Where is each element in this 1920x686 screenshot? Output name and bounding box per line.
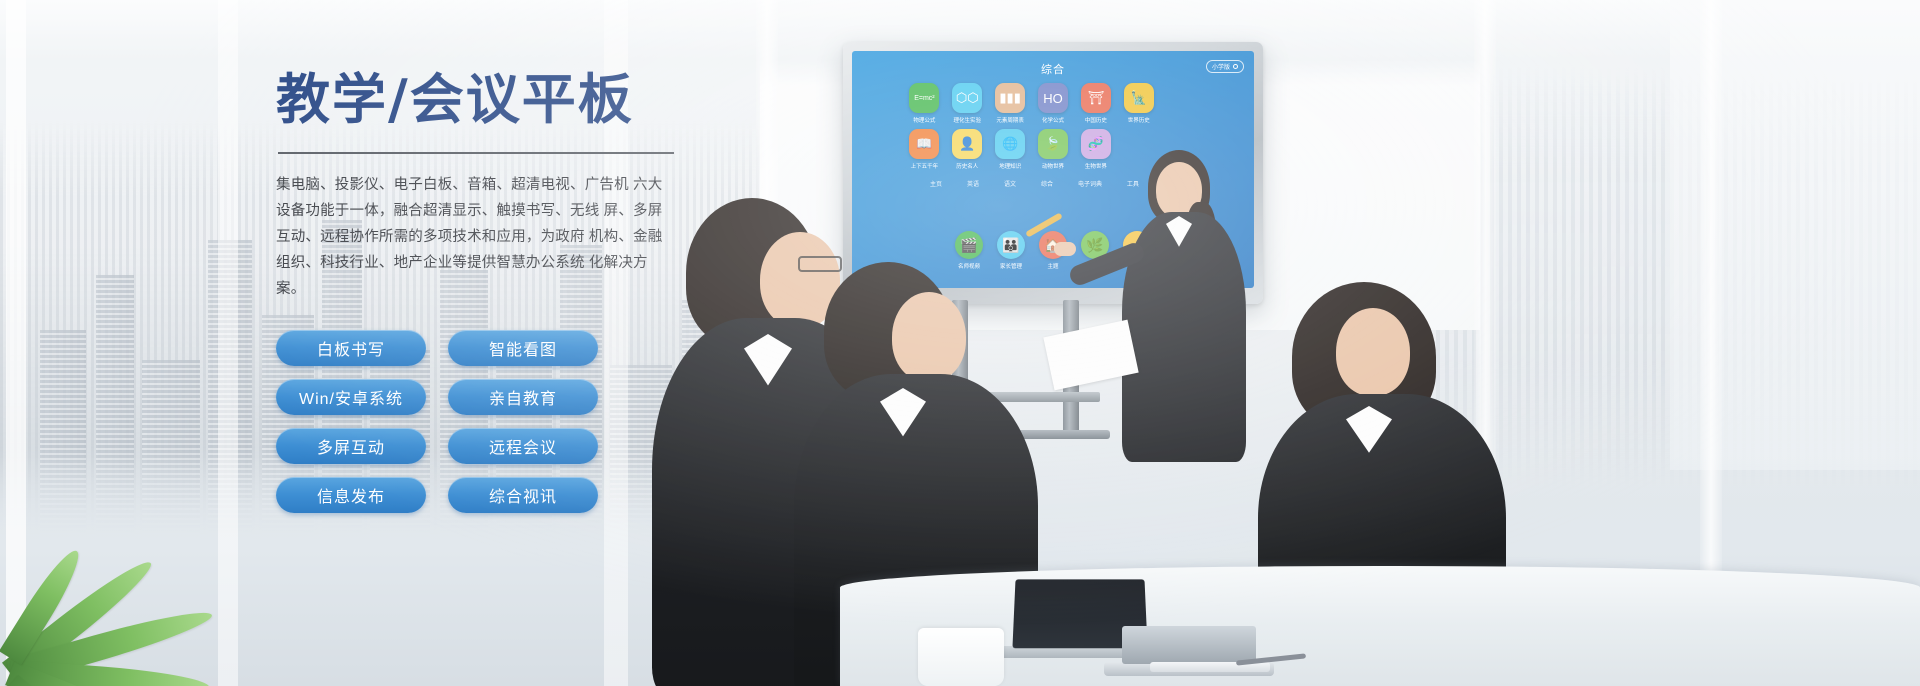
app-tile[interactable]: 🌐地理知识 — [992, 129, 1029, 170]
feature-button[interactable]: 多屏互动 — [276, 428, 426, 464]
feature-button-label: Win/安卓系统 — [299, 385, 403, 409]
app-icon: 🗽 — [1124, 83, 1154, 113]
app-label: 理化生实验 — [954, 116, 982, 124]
dock-icon: 👪 — [997, 231, 1025, 259]
app-tile[interactable]: 👤历史名人 — [949, 129, 986, 170]
feature-button-label: 智能看图 — [489, 336, 557, 360]
app-label: 元素周期表 — [996, 116, 1024, 124]
presenter-hand — [1054, 242, 1076, 256]
subject-tab[interactable]: 电子词典 — [1078, 179, 1102, 188]
page-title: 教学/会议平板 — [276, 70, 696, 130]
grade-badge-label: 小学版 — [1212, 62, 1230, 71]
app-icon: ⬡⬡ — [952, 83, 982, 113]
subject-tab[interactable]: 语文 — [1004, 179, 1016, 188]
app-tile[interactable]: E=mc²物理公式 — [906, 83, 943, 124]
app-label: 中国历史 — [1085, 116, 1107, 124]
title-divider — [278, 152, 674, 154]
subject-tab[interactable]: 英语 — [967, 179, 979, 188]
app-tile[interactable]: 🧬生物世界 — [1077, 129, 1114, 170]
app-label: 化学公式 — [1042, 116, 1064, 124]
subject-tab[interactable]: 主页 — [930, 179, 942, 188]
feature-button[interactable]: 综合视讯 — [448, 477, 598, 513]
app-icon: 🧬 — [1081, 129, 1111, 159]
app-icon: 👤 — [952, 129, 982, 159]
app-grid-row-1: E=mc²物理公式⬡⬡理化生实验▮▮▮元素周期表HO化学公式⛩中国历史🗽世界历史 — [906, 83, 1200, 124]
feature-button[interactable]: 白板书写 — [276, 330, 426, 366]
app-tile[interactable]: ⛩中国历史 — [1077, 83, 1114, 124]
app-label: 地理知识 — [999, 162, 1021, 170]
grade-badge[interactable]: 小学版 — [1206, 60, 1244, 73]
feature-button[interactable]: 智能看图 — [448, 330, 598, 366]
coffee-cup — [918, 628, 1004, 686]
feature-button-grid: 白板书写智能看图Win/安卓系统亲自教育多屏互动远程会议信息发布综合视讯 — [276, 330, 696, 513]
app-tile[interactable]: 🍃动物世界 — [1035, 129, 1072, 170]
subject-tab[interactable]: 综合 — [1041, 179, 1053, 188]
app-icon: ▮▮▮ — [995, 83, 1025, 113]
app-icon: ⛩ — [1081, 83, 1111, 113]
app-icon: HO — [1038, 83, 1068, 113]
app-icon: 🌐 — [995, 129, 1025, 159]
app-label: 世界历史 — [1128, 116, 1150, 124]
feature-button[interactable]: 信息发布 — [276, 477, 426, 513]
app-tile[interactable]: 🗽世界历史 — [1120, 83, 1157, 124]
feature-button[interactable]: 远程会议 — [448, 428, 598, 464]
app-label: 历史名人 — [956, 162, 978, 170]
feature-button-label: 亲自教育 — [489, 385, 557, 409]
app-icon: 📖 — [909, 129, 939, 159]
feature-button-label: 白板书写 — [317, 336, 385, 360]
app-label: 动物世界 — [1042, 162, 1064, 170]
dock-icon: 🎬 — [955, 231, 983, 259]
app-tile[interactable]: ▮▮▮元素周期表 — [992, 83, 1029, 124]
feature-button-label: 综合视讯 — [489, 483, 557, 507]
app-label: 生物世界 — [1085, 162, 1107, 170]
feature-button[interactable]: 亲自教育 — [448, 379, 598, 415]
app-label: 物理公式 — [913, 116, 935, 124]
screen-title: 综合 — [852, 61, 1254, 77]
feature-button-label: 多屏互动 — [317, 434, 385, 458]
presenter — [1110, 150, 1260, 570]
app-icon: E=mc² — [909, 83, 939, 113]
app-tile[interactable]: 📖上下五千年 — [906, 129, 943, 170]
feature-button-label: 信息发布 — [317, 483, 385, 507]
feature-button-label: 远程会议 — [489, 434, 557, 458]
app-icon: 🍃 — [1038, 129, 1068, 159]
feature-button[interactable]: Win/安卓系统 — [276, 379, 426, 415]
hero-text-panel: 教学/会议平板 集电脑、投影仪、电子白板、音箱、超清电视、广告机 六大设备功能于… — [276, 70, 696, 513]
app-tile[interactable]: ⬡⬡理化生实验 — [949, 83, 986, 124]
palm-plant — [0, 436, 300, 686]
hero-description: 集电脑、投影仪、电子白板、音箱、超清电视、广告机 六大设备功能于一体，融合超清显… — [276, 172, 676, 302]
app-label: 上下五千年 — [911, 162, 939, 170]
refresh-icon — [1233, 64, 1238, 69]
app-tile[interactable]: HO化学公式 — [1035, 83, 1072, 124]
